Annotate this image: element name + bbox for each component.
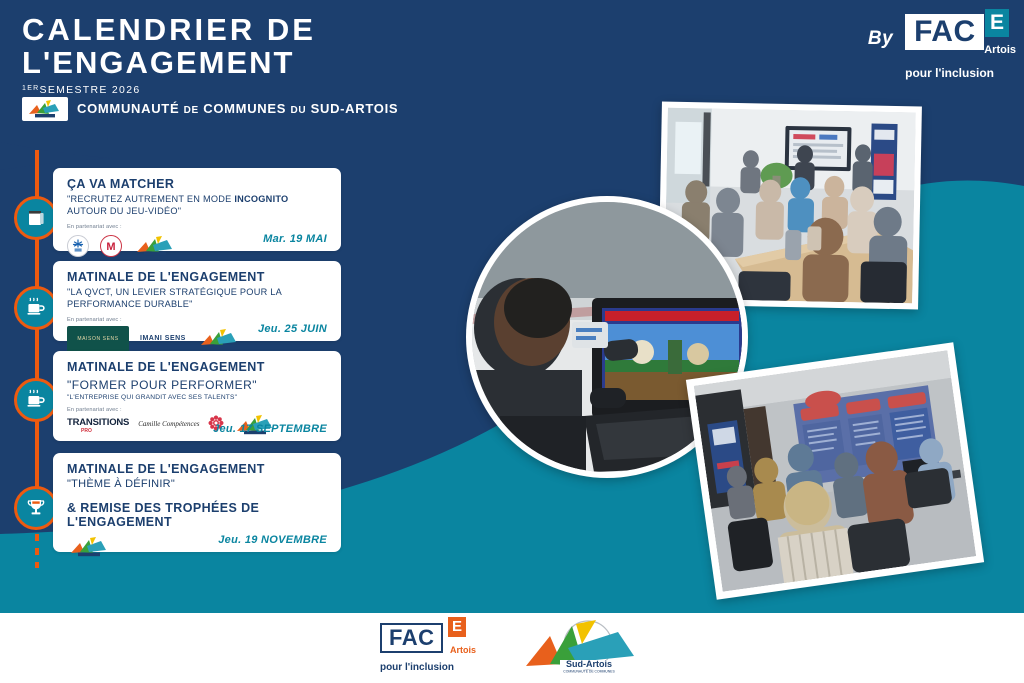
community-word-1: COMMUNAUTÉ bbox=[77, 101, 179, 116]
sud-artois-logo bbox=[67, 536, 111, 558]
sud-artois-logo bbox=[22, 97, 68, 121]
footer-face-tagline: pour l'inclusion bbox=[380, 662, 454, 673]
footer-face-letters: FAC bbox=[389, 626, 435, 649]
timeline-node-3[interactable] bbox=[14, 378, 58, 422]
footer-face-artois: Artois bbox=[450, 645, 476, 655]
community-word-de: DE bbox=[184, 105, 199, 116]
maison-sens-name: MAISON SENS bbox=[77, 336, 118, 342]
event-headline: "FORMER POUR PERFORMER" bbox=[67, 378, 327, 392]
footer: FAC E Artois pour l'inclusion Sud-Artois… bbox=[0, 613, 1024, 683]
footer-face-e: E bbox=[448, 617, 466, 637]
poster-header: CALENDRIER DE L'ENGAGEMENT 1ERSEMESTRE 2… bbox=[22, 14, 542, 121]
community-word-2: COMMUNES bbox=[203, 101, 286, 116]
face-logo-group: FAC E Artois pour l'inclusion bbox=[905, 14, 994, 80]
event-card-3[interactable]: MATINALE DE L'ENGAGEMENT "FORMER POUR PE… bbox=[53, 351, 341, 441]
semester-label: 1ERSEMESTRE 2026 bbox=[22, 84, 542, 96]
face-logo-e: E bbox=[985, 9, 1009, 37]
footer-sud-artois-label: Sud-Artois bbox=[566, 659, 612, 669]
event-subtitle: "LA QVCT, UN LEVIER STRATÉGIQUE POUR LA … bbox=[67, 287, 327, 311]
transitions-word: TRANSITIONS bbox=[67, 417, 129, 428]
mission-locale-logo: M bbox=[100, 235, 122, 257]
semester-text: SEMESTRE 2026 bbox=[40, 84, 141, 96]
event-tagline: "L'ENTREPRISE QUI GRANDIT AVEC SES TALEN… bbox=[67, 394, 327, 401]
coffee-cup-icon bbox=[25, 297, 47, 319]
poster-canvas: CALENDRIER DE L'ENGAGEMENT 1ERSEMESTRE 2… bbox=[0, 0, 1024, 683]
footer-sud-artois-sub: COMMUNAUTÉ DE COMMUNES bbox=[563, 668, 615, 673]
game-console-icon bbox=[26, 208, 46, 228]
timeline-node-1[interactable] bbox=[14, 196, 58, 240]
timeline-node-2[interactable] bbox=[14, 286, 58, 330]
face-logo-tagline: pour l'inclusion bbox=[905, 66, 994, 80]
event-date: Jeu. 25 JUIN bbox=[258, 323, 327, 335]
footer-sud-artois-logo: Sud-Artois COMMUNAUTÉ DE COMMUNES bbox=[516, 618, 644, 679]
event-subtitle: "THÈME À DÉFINIR" bbox=[67, 477, 327, 491]
partner-label: En partenariat avec : bbox=[67, 317, 327, 323]
event-date: Jeu. 17 SEPTEMBRE bbox=[213, 423, 327, 435]
event-card-1[interactable]: ÇA VA MATCHER "RECRUTEZ AUTREMENT EN MOD… bbox=[53, 168, 341, 251]
transitions-pro-word: PRO bbox=[81, 428, 92, 434]
semester-ordinal: 1ER bbox=[22, 85, 40, 92]
photo-conference-audience bbox=[686, 342, 984, 599]
title-line-2: L'ENGAGEMENT bbox=[22, 47, 542, 80]
event-date: Jeu. 19 NOVEMBRE bbox=[218, 534, 327, 546]
face-logo-letters: FAC bbox=[914, 17, 976, 47]
face-logo-artois: Artois bbox=[984, 44, 1016, 56]
event-title: MATINALE DE L'ENGAGEMENT bbox=[67, 462, 327, 476]
coffee-cup-icon bbox=[25, 389, 47, 411]
transitions-pro-logo: TRANSITIONS PRO bbox=[67, 417, 129, 434]
event-card-2[interactable]: MATINALE DE L'ENGAGEMENT "LA QVCT, UN LE… bbox=[53, 261, 341, 341]
footer-face-box: FAC bbox=[380, 623, 444, 653]
subtitle-part-1: "RECRUTEZ AUTREMENT EN MODE bbox=[67, 194, 234, 204]
brand-face-logo: By FAC E Artois pour l'inclusion bbox=[868, 14, 994, 80]
camille-competences-logo: Camille Compétences bbox=[138, 421, 199, 429]
event-subtitle: "RECRUTEZ AUTREMENT EN MODE INCOGNITO AU… bbox=[67, 194, 327, 218]
event-title: ÇA VA MATCHER bbox=[67, 177, 327, 191]
face-logo-box: FAC bbox=[905, 14, 984, 50]
face-logo-mark: FAC E Artois bbox=[905, 14, 994, 50]
subtitle-part-2: AUTOUR DU JEU-VIDÉO" bbox=[67, 206, 181, 216]
title-line-1: CALENDRIER DE bbox=[22, 14, 542, 47]
trophy-icon bbox=[25, 497, 47, 519]
partner-label: En partenariat avec : bbox=[67, 224, 327, 230]
event-date: Mar. 19 MAI bbox=[263, 233, 327, 245]
event-trophy-line: & REMISE DES TROPHÉES DE L'ENGAGEMENT bbox=[67, 501, 327, 529]
by-label: By bbox=[868, 28, 893, 50]
event-card-4[interactable]: MATINALE DE L'ENGAGEMENT "THÈME À DÉFINI… bbox=[53, 453, 341, 552]
sud-artois-logo bbox=[197, 328, 241, 350]
community-row: COMMUNAUTÉ DE COMMUNES DU SUD-ARTOIS bbox=[22, 97, 542, 121]
france-travail-logo bbox=[67, 235, 89, 257]
sud-artois-logo bbox=[133, 235, 177, 257]
imani-sens-label: IMANI SENS bbox=[140, 335, 186, 342]
event-title: MATINALE DE L'ENGAGEMENT bbox=[67, 360, 327, 374]
page-title: CALENDRIER DE L'ENGAGEMENT bbox=[22, 14, 542, 80]
community-word-3: SUD-ARTOIS bbox=[311, 101, 399, 116]
subtitle-emphasis: INCOGNITO bbox=[234, 194, 288, 204]
footer-face-logo: FAC E Artois pour l'inclusion bbox=[380, 623, 454, 673]
svg-text:M: M bbox=[106, 241, 115, 253]
event-title: MATINALE DE L'ENGAGEMENT bbox=[67, 270, 327, 284]
partner-label: En partenariat avec : bbox=[67, 407, 327, 413]
maison-sens-logo: MAISON SENS bbox=[67, 326, 129, 352]
community-word-du: DU bbox=[290, 105, 306, 116]
timeline-node-4[interactable] bbox=[14, 486, 58, 530]
community-title: COMMUNAUTÉ DE COMMUNES DU SUD-ARTOIS bbox=[77, 101, 398, 116]
